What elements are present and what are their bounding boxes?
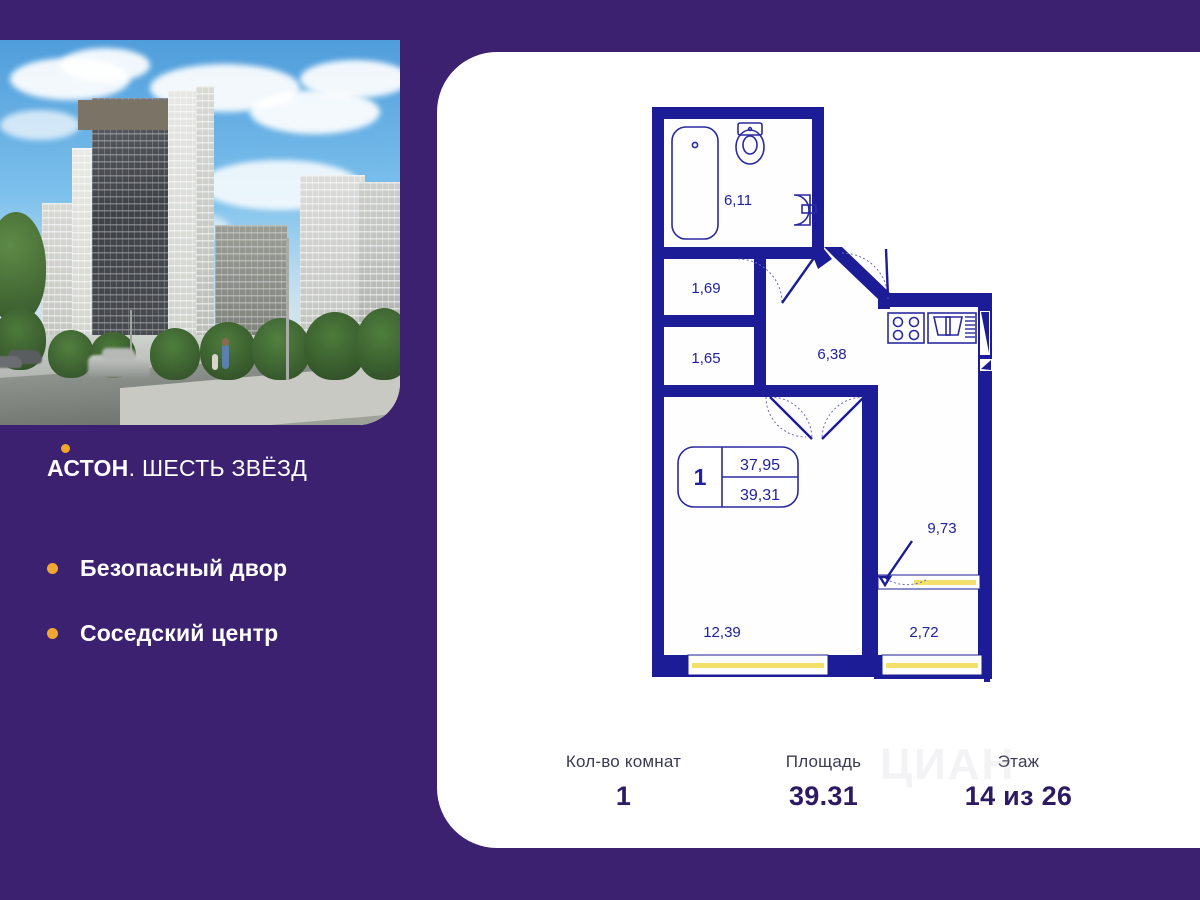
room-area-kitchen-living: 9,73 — [927, 520, 956, 537]
room-area-storage-lower: 1,65 — [691, 350, 720, 367]
room-area-hallway: 6,38 — [817, 346, 846, 363]
logo-name: АСТОН — [47, 455, 129, 481]
stat-value: 39.31 — [726, 781, 921, 812]
bullet-dot-icon — [47, 628, 58, 639]
logo-subtitle: . ШЕСТЬ ЗВЁЗД — [129, 455, 308, 481]
stat-label: Кол-во комнат — [521, 752, 726, 772]
hero-photo — [0, 40, 400, 425]
brand-logo: АСТОН. ШЕСТЬ ЗВЁЗД — [47, 455, 307, 482]
stat-floor: Этаж 14 из 26 — [921, 752, 1116, 812]
feature-item-1: Безопасный двор — [47, 555, 287, 582]
feature-item-2: Соседский центр — [47, 620, 287, 647]
floorplan-drawing: 6,11 1,69 1,65 6,38 9,73 12,39 2,72 1 37… — [642, 97, 997, 727]
room-area-bathroom: 6,11 — [724, 192, 752, 209]
room-area-balcony: 2,72 — [909, 624, 938, 641]
stat-rooms: Кол-во комнат 1 — [521, 752, 726, 812]
stat-value: 14 из 26 — [921, 781, 1116, 812]
feature-list: Безопасный двор Соседский центр — [47, 555, 287, 685]
badge-total-area: 39,31 — [740, 487, 780, 504]
logo-dot-icon — [61, 444, 70, 453]
badge-living-area: 37,95 — [740, 457, 780, 474]
stat-label: Этаж — [921, 752, 1116, 772]
stat-label: Площадь — [726, 752, 921, 772]
feature-label: Безопасный двор — [80, 555, 287, 582]
feature-label: Соседский центр — [80, 620, 278, 647]
stat-value: 1 — [521, 781, 726, 812]
stat-area: Площадь 39.31 — [726, 752, 921, 812]
room-area-living: 12,39 — [703, 624, 741, 641]
left-panel: АСТОН. ШЕСТЬ ЗВЁЗД Безопасный двор Сосед… — [0, 0, 437, 900]
badge-room-count: 1 — [694, 464, 707, 490]
room-area-storage-upper: 1,69 — [691, 280, 720, 297]
floorplan-card: 6,11 1,69 1,65 6,38 9,73 12,39 2,72 1 37… — [437, 52, 1200, 848]
bullet-dot-icon — [47, 563, 58, 574]
area-badge: 1 37,95 39,31 — [678, 447, 798, 507]
stats-row: Кол-во комнат 1 Площадь 39.31 Этаж 14 из… — [437, 752, 1200, 812]
